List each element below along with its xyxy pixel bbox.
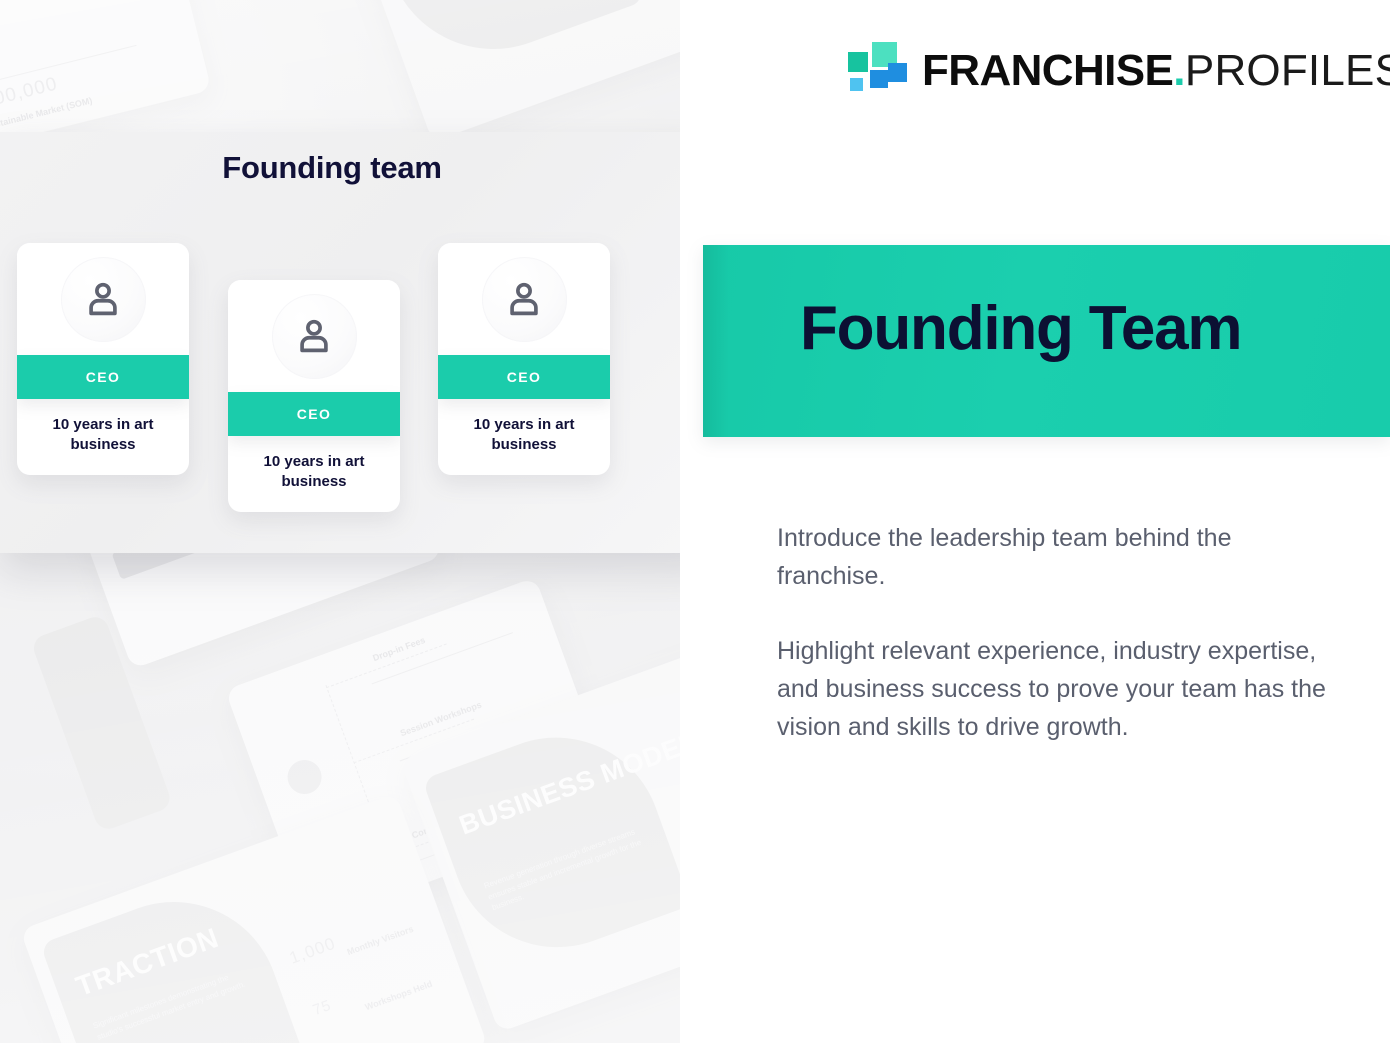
divider bbox=[372, 632, 513, 684]
backdrop-slide-body: Growing preferences in urban and suburba… bbox=[0, 0, 45, 4]
avatar bbox=[228, 280, 400, 392]
brand-wordmark: FRANCHISE.PROFILES bbox=[922, 49, 1390, 93]
body-copy: Introduce the leadership team behind the… bbox=[777, 519, 1339, 746]
slide-canvas: MARKET Growing preferences in urban and … bbox=[0, 0, 1390, 1043]
role-badge: CEO bbox=[228, 392, 400, 436]
backdrop-metric-label: Monthly Visitors bbox=[346, 924, 415, 957]
brand-dot: . bbox=[1173, 46, 1185, 95]
team-member-card[interactable]: CEO 10 years in art business bbox=[17, 243, 189, 475]
page-title: Founding Team bbox=[800, 293, 1241, 364]
role-badge: CEO bbox=[17, 355, 189, 399]
content-pane: FRANCHISE.PROFILES Founding Team Introdu… bbox=[680, 0, 1390, 1043]
avatar bbox=[17, 243, 189, 355]
title-banner: Founding Team bbox=[703, 245, 1390, 437]
brand-word-primary: FRANCHISE bbox=[922, 46, 1173, 95]
backdrop-metric-label: Workshops Held bbox=[364, 979, 434, 1013]
backdrop-label: Drop-in Fees bbox=[371, 635, 426, 663]
body-paragraph: Highlight relevant experience, industry … bbox=[777, 632, 1339, 746]
member-note: 10 years in art business bbox=[17, 399, 189, 475]
member-note: 10 years in art business bbox=[438, 399, 610, 475]
team-member-card[interactable]: CEO 10 years in art business bbox=[438, 243, 610, 475]
person-icon bbox=[82, 278, 124, 320]
avatar bbox=[438, 243, 610, 355]
member-note: 10 years in art business bbox=[228, 436, 400, 512]
team-member-card[interactable]: CEO 10 years in art business bbox=[228, 280, 400, 512]
body-paragraph: Introduce the leadership team behind the… bbox=[777, 519, 1339, 595]
slide-preview-title: Founding team bbox=[182, 150, 482, 186]
backdrop-metric-value: 1,000 bbox=[287, 934, 339, 969]
brand-logo: FRANCHISE.PROFILES bbox=[848, 42, 1390, 100]
brand-word-secondary: PROFILES bbox=[1185, 46, 1390, 95]
money-icon bbox=[283, 755, 327, 799]
person-icon bbox=[293, 315, 335, 357]
role-badge: CEO bbox=[438, 355, 610, 399]
avatar-circle bbox=[61, 257, 146, 342]
backdrop-metric-value: 75 bbox=[311, 997, 334, 1019]
avatar-circle bbox=[482, 257, 567, 342]
avatar-circle bbox=[272, 294, 357, 379]
person-icon bbox=[503, 278, 545, 320]
slide-preview-panel: Founding team CEO 10 years in art busine… bbox=[0, 132, 705, 553]
pixel-squares-icon bbox=[848, 42, 906, 100]
